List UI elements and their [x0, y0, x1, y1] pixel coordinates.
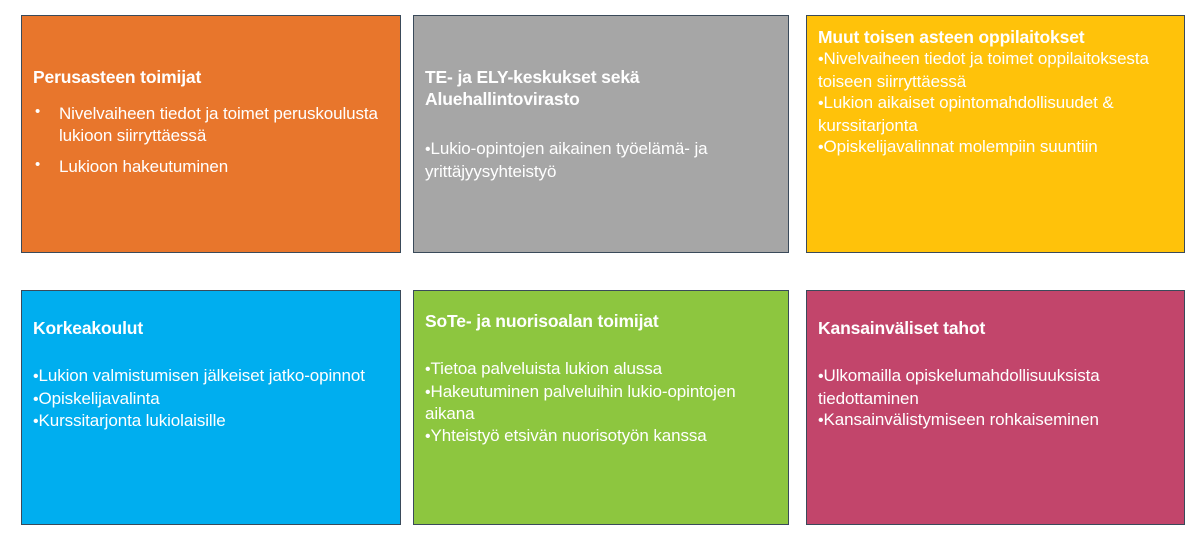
card-title: Muut toisen asteen oppilaitokset	[818, 26, 1179, 48]
card-content: Korkeakoulut Lukion valmistumisen jälkei…	[33, 317, 394, 432]
list-item: Yhteistyö etsivän nuorisotyön kanssa	[425, 425, 780, 447]
diagram-board: Perusasteen toimijat Nivelvaiheen tiedot…	[0, 0, 1202, 539]
card-kansainvaliset-tahot[interactable]: Kansainväliset tahot Ulkomailla opiskelu…	[806, 290, 1185, 525]
card-title: SoTe- ja nuorisoalan toimijat	[425, 310, 780, 332]
card-bullet-list: Ulkomailla opiskelumahdollisuuksista tie…	[818, 365, 1180, 432]
card-content: SoTe- ja nuorisoalan toimijat Tietoa pal…	[425, 310, 780, 447]
card-te-ely[interactable]: TE- ja ELY-keskukset sekä Aluehallintovi…	[413, 15, 789, 253]
card-content: TE- ja ELY-keskukset sekä Aluehallintovi…	[425, 66, 780, 182]
card-bullet-list: Lukio-opintojen aikainen työelämä- ja yr…	[425, 138, 780, 182]
card-title: Kansainväliset tahot	[818, 317, 1180, 339]
list-item: Opiskelijavalinta	[33, 388, 394, 410]
list-item: Tietoa palveluista lukion alussa	[425, 358, 780, 380]
card-title: TE- ja ELY-keskukset sekä Aluehallintovi…	[425, 66, 780, 110]
list-item: Nivelvaiheen tiedot ja toimet oppilaitok…	[818, 48, 1179, 92]
card-bullet-list: Lukion valmistumisen jälkeiset jatko-opi…	[33, 365, 394, 432]
list-item: Hakeutuminen palveluihin lukio-opintojen…	[425, 381, 780, 425]
card-content: Perusasteen toimijat Nivelvaiheen tiedot…	[33, 66, 390, 177]
list-item: Lukioon hakeutuminen	[33, 156, 390, 178]
card-bullet-list: Nivelvaiheen tiedot ja toimet peruskoulu…	[33, 103, 390, 177]
list-item: Nivelvaiheen tiedot ja toimet peruskoulu…	[33, 103, 390, 147]
list-item: Ulkomailla opiskelumahdollisuuksista tie…	[818, 365, 1180, 409]
card-bullet-list: Nivelvaiheen tiedot ja toimet oppilaitok…	[818, 48, 1179, 159]
card-korkeakoulut[interactable]: Korkeakoulut Lukion valmistumisen jälkei…	[21, 290, 401, 525]
card-title: Perusasteen toimijat	[33, 66, 390, 88]
list-item: Kansainvälistymiseen rohkaiseminen	[818, 409, 1180, 431]
card-content: Muut toisen asteen oppilaitokset Nivelva…	[818, 26, 1179, 159]
card-title: Korkeakoulut	[33, 317, 394, 339]
list-item: Kurssitarjonta lukiolaisille	[33, 410, 394, 432]
list-item: Lukion aikaiset opintomahdollisuudet & k…	[818, 92, 1179, 136]
list-item: Opiskelijavalinnat molempiin suuntiin	[818, 136, 1179, 158]
card-toinen-aste[interactable]: Muut toisen asteen oppilaitokset Nivelva…	[806, 15, 1185, 253]
card-bullet-list: Tietoa palveluista lukion alussa Hakeutu…	[425, 358, 780, 447]
card-sote-nuorisoala[interactable]: SoTe- ja nuorisoalan toimijat Tietoa pal…	[413, 290, 789, 525]
card-perusaste[interactable]: Perusasteen toimijat Nivelvaiheen tiedot…	[21, 15, 401, 253]
card-content: Kansainväliset tahot Ulkomailla opiskelu…	[818, 317, 1180, 432]
list-item: Lukio-opintojen aikainen työelämä- ja yr…	[425, 138, 780, 182]
list-item: Lukion valmistumisen jälkeiset jatko-opi…	[33, 365, 394, 387]
